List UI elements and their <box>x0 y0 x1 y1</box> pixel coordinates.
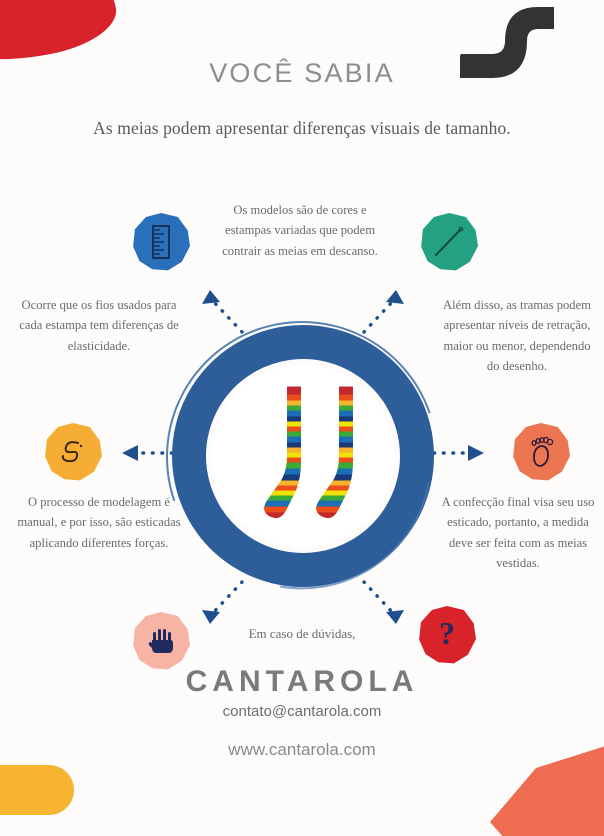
callout-text-right-lower: A confecção final visa seu uso esticado,… <box>438 492 598 574</box>
infographic-poster: VOCÊ SABIA As meias podem apresentar dif… <box>0 0 604 836</box>
ruler-icon <box>152 225 170 259</box>
badge-footprint <box>512 423 570 481</box>
needle-icon <box>433 226 465 258</box>
contact-email[interactable]: contato@cantarola.com <box>0 703 604 720</box>
callout-text-top: Os modelos são de cores e estampas varia… <box>215 200 385 261</box>
center-medallion <box>172 325 434 587</box>
brand-logo: CANTAROLA <box>0 665 604 699</box>
thread-icon <box>58 437 88 467</box>
decor-yellow-blob-bottom-left <box>0 765 74 815</box>
callout-text-left-upper: Ocorre que os fios usados para cada esta… <box>18 295 180 356</box>
footprint-icon <box>528 435 554 469</box>
badge-ruler <box>132 213 190 271</box>
contact-website[interactable]: www.cantarola.com <box>0 740 604 760</box>
page-title: VOCÊ SABIA <box>0 58 604 89</box>
callout-text-left-lower: O processo de modelagem é manual, e por … <box>16 492 182 553</box>
striped-socks-illustration <box>247 383 359 530</box>
callout-text-right-upper: Além disso, as tramas podem apresentar n… <box>438 295 596 377</box>
footer-note: Em caso de dúvidas, <box>0 626 604 642</box>
arrow-right <box>432 443 488 468</box>
badge-needle <box>420 213 478 271</box>
badge-thread <box>44 423 102 481</box>
brand-logo-text: CANTAROLA <box>186 665 419 699</box>
page-subtitle: As meias podem apresentar diferenças vis… <box>0 118 604 139</box>
